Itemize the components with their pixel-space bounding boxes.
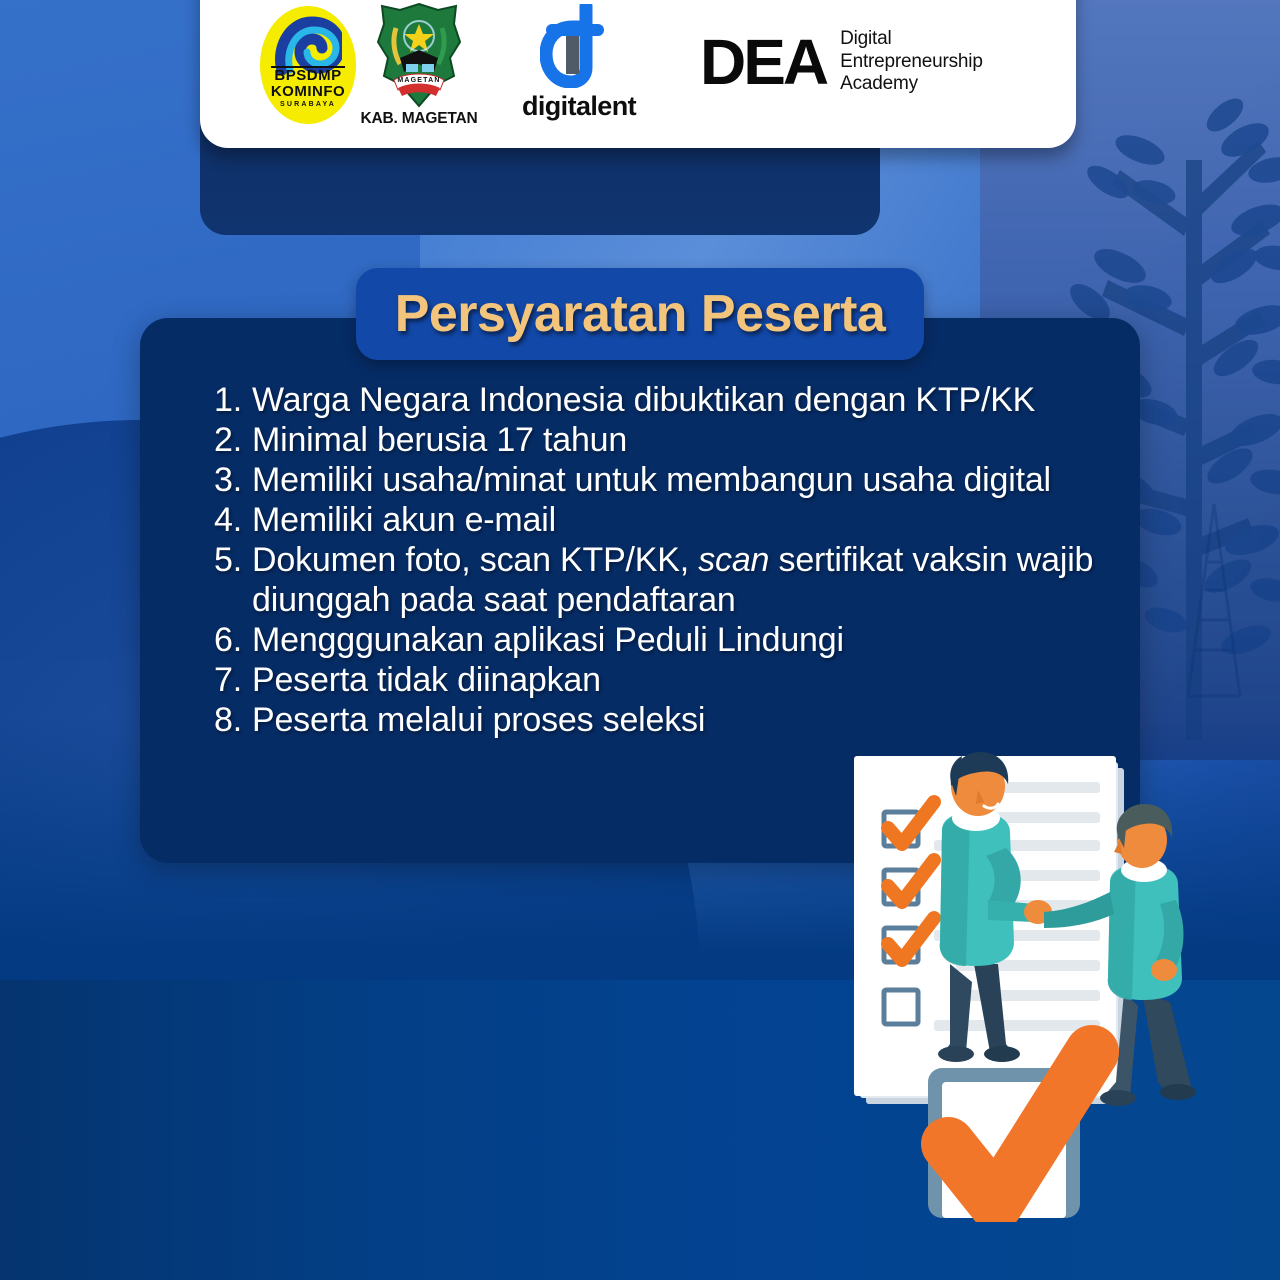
logo-bar: BPSDMP KOMINFO SURABAYA xyxy=(200,0,1076,148)
checklist-handshake-illustration xyxy=(838,752,1238,1222)
list-item-text: Mengggunakan aplikasi Peduli Lindungi xyxy=(252,620,1096,660)
dea-logo: DEA Digital Entrepreneurship Academy xyxy=(700,28,983,95)
list-item-text: Peserta melalui proses seleksi xyxy=(252,700,1096,740)
digitalent-logo: digitalent xyxy=(480,0,654,126)
poster-canvas: BPSDMP KOMINFO SURABAYA xyxy=(0,0,1280,1280)
list-item-number: 5. xyxy=(196,540,252,580)
list-item: 8. Peserta melalui proses seleksi xyxy=(196,700,1096,740)
list-item-number: 8. xyxy=(196,700,252,740)
list-item-text: Peserta tidak diinapkan xyxy=(252,660,1096,700)
list-item-number: 4. xyxy=(196,500,252,540)
list-item-number: 6. xyxy=(196,620,252,660)
illustration-svg xyxy=(838,752,1238,1222)
kominfo-line3: SURABAYA xyxy=(258,101,358,108)
list-item: 4. Memiliki akun e-mail xyxy=(196,500,1096,540)
list-item-number: 7. xyxy=(196,660,252,700)
list-item: 5. Dokumen foto, scan KTP/KK, scan serti… xyxy=(196,540,1096,620)
list-item-number: 3. xyxy=(196,460,252,500)
list-item: 7. Peserta tidak diinapkan xyxy=(196,660,1096,700)
list-item: 2. Minimal berusia 17 tahun xyxy=(196,420,1096,460)
list-item: 6. Mengggunakan aplikasi Peduli Lindungi xyxy=(196,620,1096,660)
list-item-text: Memiliki usaha/minat untuk membangun usa… xyxy=(252,460,1096,500)
list-item: 1. Warga Negara Indonesia dibuktikan den… xyxy=(196,380,1096,420)
list-item-text: Warga Negara Indonesia dibuktikan dengan… xyxy=(252,380,1096,420)
dea-sub-line1: Digital xyxy=(840,28,983,50)
magetan-crest-icon: MAGETAN xyxy=(376,2,462,108)
dea-mark: DEA xyxy=(700,30,826,94)
title-banner: Persyaratan Peserta xyxy=(356,268,924,360)
tower-silhouette-icon xyxy=(1154,500,1274,700)
kominfo-line2: KOMINFO xyxy=(258,84,358,99)
page-title: Persyaratan Peserta xyxy=(395,284,886,344)
list-item: 3. Memiliki usaha/minat untuk membangun … xyxy=(196,460,1096,500)
kominfo-line1: BPSDMP xyxy=(258,68,358,83)
list-item-text: Dokumen foto, scan KTP/KK, scan sertifik… xyxy=(252,540,1096,620)
list-item-number: 2. xyxy=(196,420,252,460)
bpsdmp-kominfo-logo: BPSDMP KOMINFO SURABAYA xyxy=(258,0,358,126)
requirements-list: 1. Warga Negara Indonesia dibuktikan den… xyxy=(196,380,1096,740)
digitalent-mark-icon xyxy=(540,4,614,88)
digitalent-label: digitalent xyxy=(504,91,654,122)
list-item-text: Memiliki akun e-mail xyxy=(252,500,1096,540)
kab-magetan-logo: MAGETAN KAB. MAGETAN xyxy=(358,0,480,128)
svg-text:MAGETAN: MAGETAN xyxy=(397,77,440,84)
list-item-text: Minimal berusia 17 tahun xyxy=(252,420,1096,460)
magetan-label: KAB. MAGETAN xyxy=(358,110,480,128)
list-item-number: 1. xyxy=(196,380,252,420)
dea-sub-line2: Entrepreneurship xyxy=(840,51,983,73)
dea-sub-line3: Academy xyxy=(840,73,983,95)
